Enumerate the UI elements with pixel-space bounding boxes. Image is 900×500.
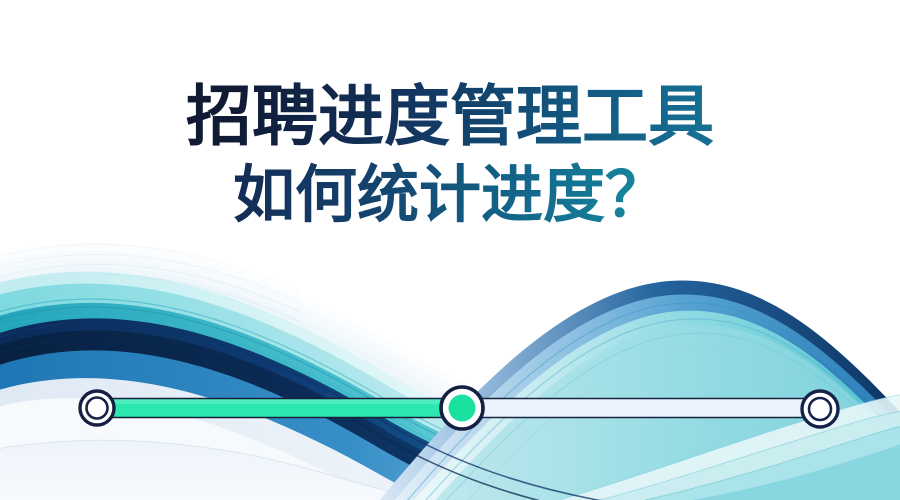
progress-segment-completed bbox=[97, 398, 462, 418]
slide-canvas: 招聘进度管理工具 如何统计进度？ bbox=[0, 0, 900, 500]
progress-tracker[interactable] bbox=[0, 0, 900, 500]
progress-node-1[interactable] bbox=[80, 391, 114, 425]
progress-segment-remaining bbox=[462, 398, 820, 418]
progress-node-3[interactable] bbox=[802, 391, 838, 427]
progress-node-2[interactable] bbox=[441, 387, 483, 429]
